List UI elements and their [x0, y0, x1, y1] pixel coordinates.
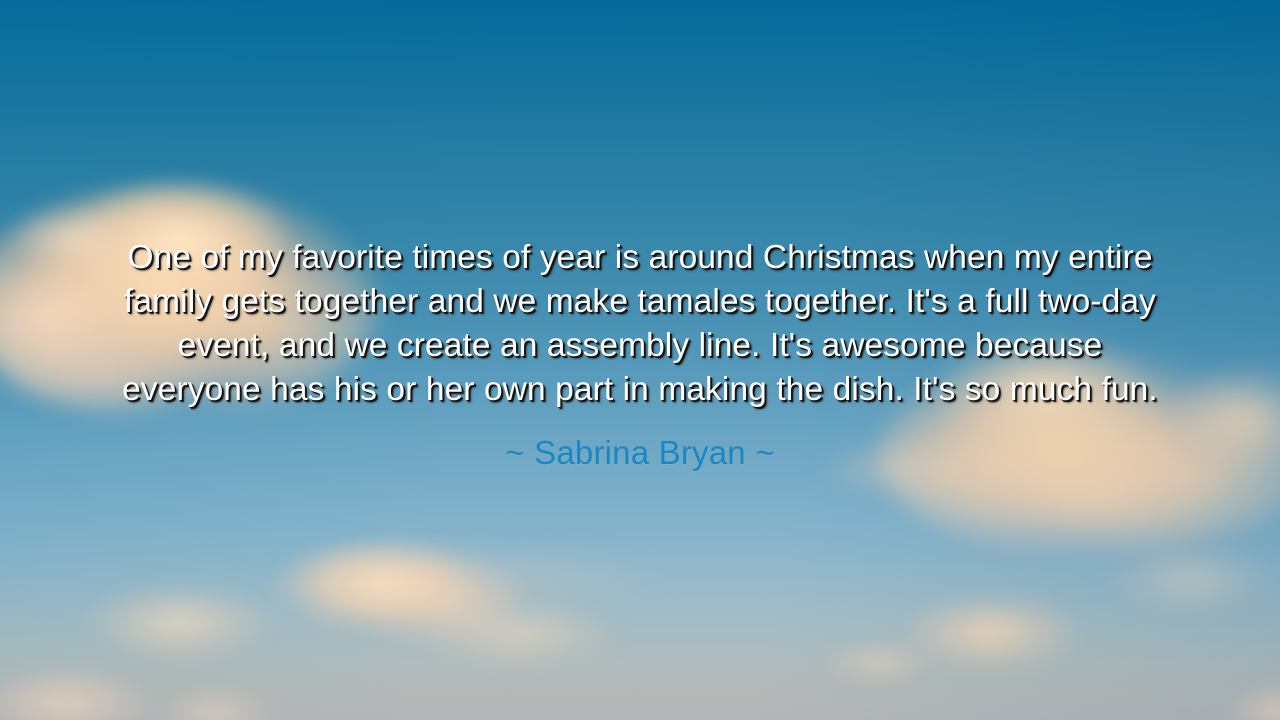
quote-author-attribution: ~ Sabrina Bryan ~ — [505, 433, 774, 473]
text-stack: One of my favorite times of year is arou… — [109, 236, 1171, 473]
quote-card: One of my favorite times of year is arou… — [0, 0, 1280, 720]
quote-content: One of my favorite times of year is arou… — [0, 0, 1280, 720]
quote-body-text: One of my favorite times of year is arou… — [109, 236, 1171, 412]
